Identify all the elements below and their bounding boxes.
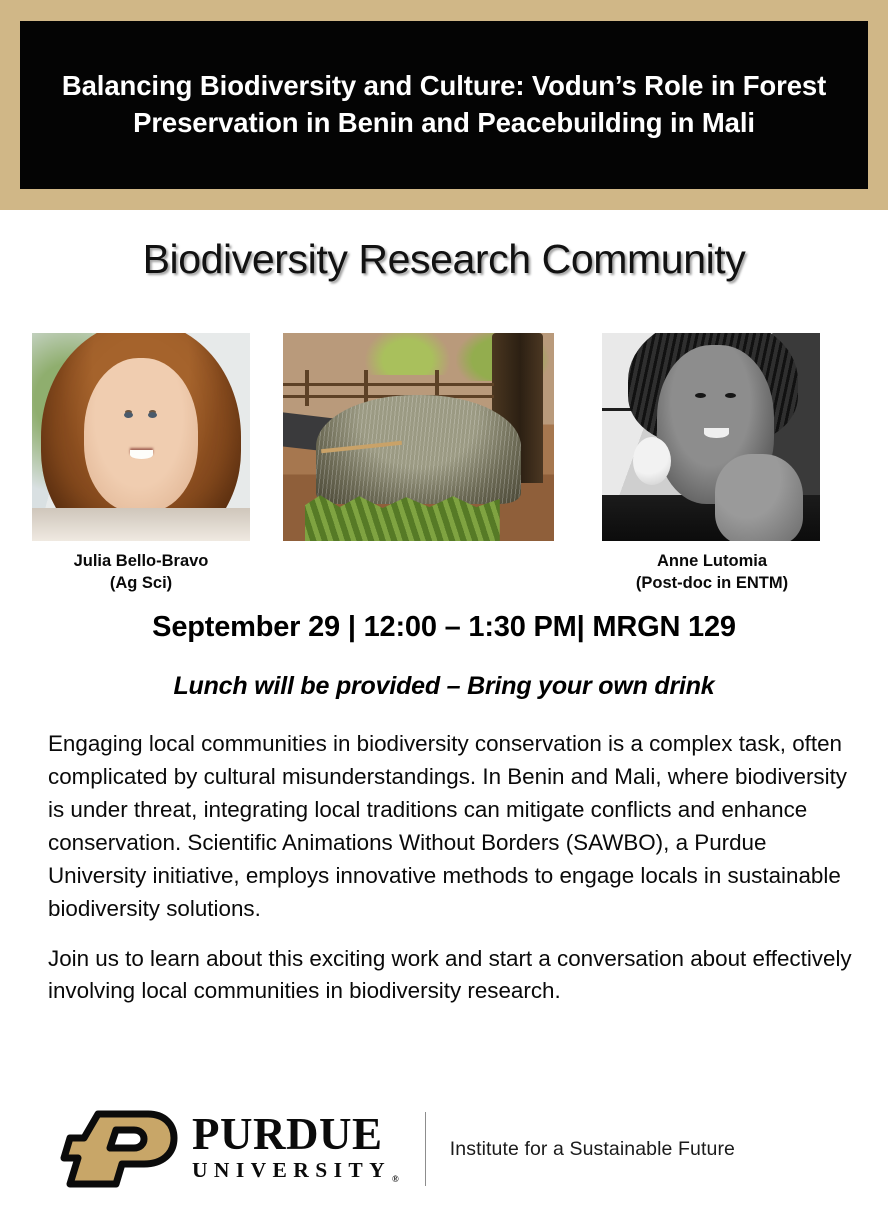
caption-name: Anne Lutomia — [588, 551, 836, 573]
caption-anne-lutomia: Anne Lutomia (Post-doc in ENTM) — [588, 551, 836, 595]
body-copy: Engaging local communities in biodiversi… — [48, 728, 860, 1008]
eye-left — [695, 393, 706, 398]
eye-left — [124, 412, 133, 418]
fence-post — [305, 370, 309, 405]
purdue-motion-p-icon — [60, 1108, 178, 1190]
event-date-time-location: September 29 | 12:00 – 1:30 PM| MRGN 129 — [0, 611, 888, 644]
hanging-leaves — [364, 333, 451, 375]
caption-julia-bello-bravo: Julia Bello-Bravo (Ag Sci) — [32, 551, 250, 595]
paragraph-invitation: Join us to learn about this exciting wor… — [48, 943, 860, 1009]
paragraph-abstract: Engaging local communities in biodiversi… — [48, 728, 860, 926]
eye-right — [725, 393, 736, 398]
wordmark-purdue: PURDUE — [192, 1113, 399, 1156]
poster-title: Balancing Biodiversity and Culture: Vodu… — [20, 68, 868, 142]
purdue-wordmark: PURDUE UNIVERSITY ® — [192, 1113, 399, 1185]
photo-anne-lutomia — [602, 333, 820, 541]
eye-right — [148, 412, 157, 418]
title-banner: Balancing Biodiversity and Culture: Vodu… — [20, 21, 868, 189]
caption-affiliation: (Post-doc in ENTM) — [588, 573, 836, 595]
hand-on-chin — [715, 454, 802, 541]
wordmark-university-text: UNIVERSITY — [192, 1156, 391, 1185]
registered-trademark-icon: ® — [392, 1173, 399, 1185]
photo-sawbo-animation-still — [283, 333, 554, 541]
photo-julia-bello-bravo — [32, 333, 250, 541]
unit-name: Institute for a Sustainable Future — [450, 1138, 735, 1161]
smile-shape — [130, 450, 154, 459]
face-shape — [84, 358, 197, 512]
top-accent-band: Balancing Biodiversity and Culture: Vodu… — [0, 0, 888, 210]
shoulder-shape — [32, 508, 250, 541]
footer-logo-lockup: PURDUE UNIVERSITY ® Institute for a Sust… — [60, 1106, 850, 1192]
lunch-note: Lunch will be provided – Bring your own … — [0, 672, 888, 701]
smile-shape — [704, 428, 730, 438]
wordmark-university: UNIVERSITY ® — [192, 1156, 399, 1185]
photo-row — [0, 333, 888, 543]
earring — [633, 437, 671, 485]
logo-divider — [425, 1112, 426, 1186]
fence-rail — [283, 383, 494, 386]
caption-affiliation: (Ag Sci) — [32, 573, 250, 595]
community-heading: Biodiversity Research Community — [0, 236, 888, 283]
caption-name: Julia Bello-Bravo — [32, 551, 250, 573]
